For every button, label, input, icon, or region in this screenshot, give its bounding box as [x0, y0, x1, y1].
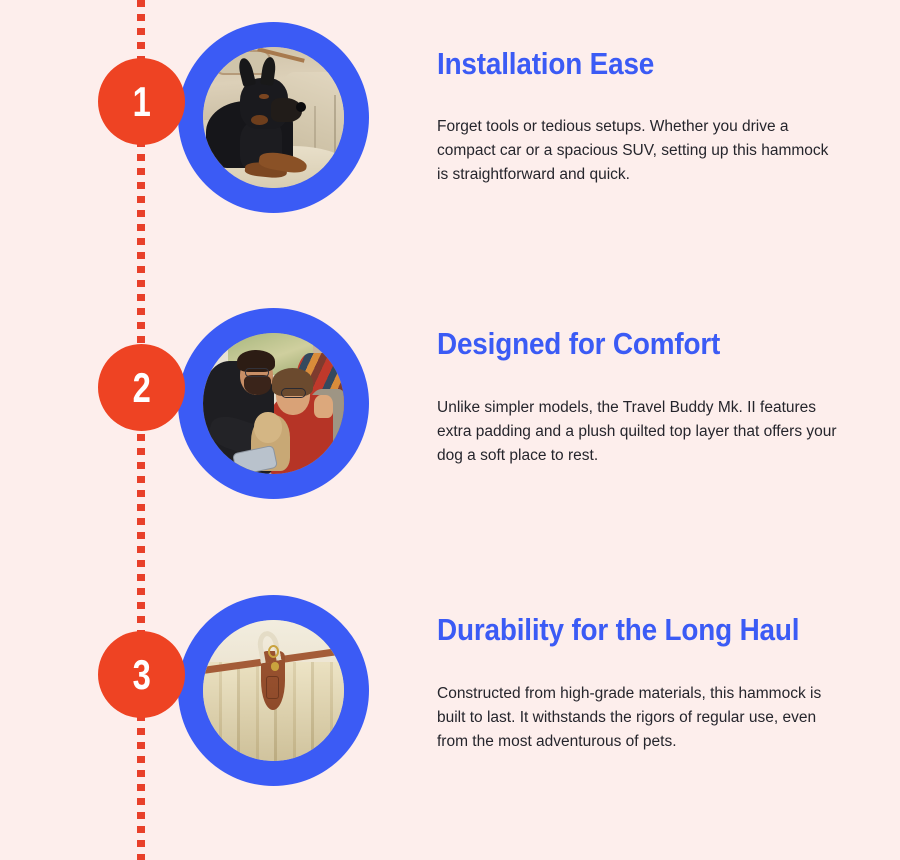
step-body-text: Unlike simpler models, the Travel Buddy … [437, 396, 837, 468]
step-text-column: Designed for Comfort Unlike simpler mode… [437, 308, 837, 468]
step-text-column: Durability for the Long Haul Constructed… [437, 595, 837, 754]
step-number-badge: 1 [98, 58, 185, 145]
step-number-label: 2 [132, 367, 150, 409]
step-image-couple-selfie-with-dog [203, 333, 344, 474]
step-image-doberman-in-car [203, 47, 344, 188]
step-image-quilted-hammock-strap [203, 620, 344, 761]
step-body-text: Constructed from high-grade materials, t… [437, 682, 837, 754]
step-number-badge: 3 [98, 631, 185, 718]
step-heading: Designed for Comfort [437, 328, 797, 361]
step-image-ring [178, 308, 369, 499]
step-image-ring [178, 595, 369, 786]
step-body-text: Forget tools or tedious setups. Whether … [437, 115, 837, 187]
step-number-label: 3 [132, 654, 150, 696]
step-heading: Durability for the Long Haul [437, 614, 797, 647]
step-number-label: 1 [132, 81, 150, 123]
step-text-column: Installation Ease Forget tools or tediou… [437, 22, 837, 187]
step-image-ring [178, 22, 369, 213]
step-heading: Installation Ease [437, 48, 797, 81]
step-number-badge: 2 [98, 344, 185, 431]
